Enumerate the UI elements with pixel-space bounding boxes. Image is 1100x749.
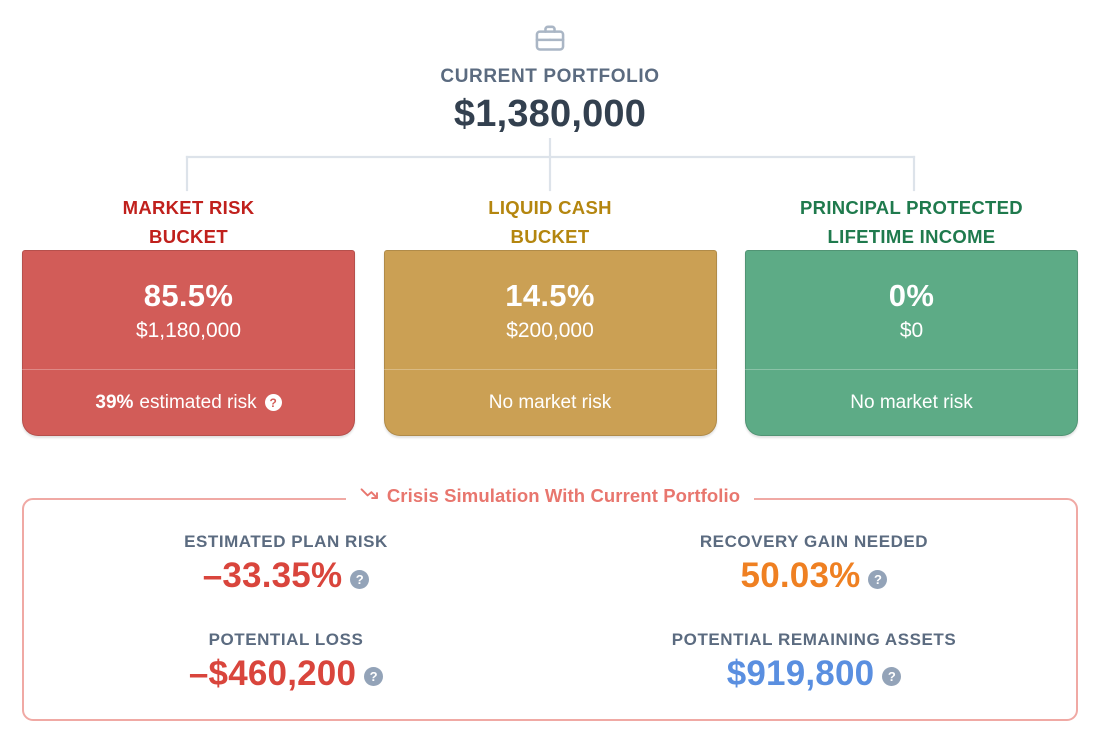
stat-value: –33.35% xyxy=(203,555,343,597)
bucket-risk-text: estimated risk xyxy=(139,392,256,414)
stat-value: 50.03% xyxy=(741,555,861,597)
bucket-amount: $0 xyxy=(900,317,923,345)
help-icon-estimated-plan-risk[interactable]: ? xyxy=(350,570,369,589)
help-icon-potential-remaining-assets[interactable]: ? xyxy=(882,667,901,686)
bucket-title-principal-protected: PRINCIPAL PROTECTED LIFETIME INCOME xyxy=(745,194,1078,250)
bucket-body-liquid-cash: 14.5% $200,000 No market risk xyxy=(384,250,717,436)
bucket-body-market-risk: 85.5% $1,180,000 39% estimated risk ? xyxy=(22,250,355,436)
briefcase-icon xyxy=(0,22,1100,59)
help-icon-potential-loss[interactable]: ? xyxy=(364,667,383,686)
bucket-amount: $1,180,000 xyxy=(136,317,241,345)
bucket-title-line1: LIQUID CASH xyxy=(488,197,612,218)
crisis-simulation-panel: Crisis Simulation With Current Portfolio… xyxy=(22,498,1078,721)
stat-value: $919,800 xyxy=(727,653,875,695)
stat-value: –$460,200 xyxy=(189,653,356,695)
bucket-body-principal-protected: 0% $0 No market risk xyxy=(745,250,1078,436)
stat-recovery-gain-needed: RECOVERY GAIN NEEDED 50.03% ? xyxy=(550,516,1078,614)
bucket-risk-text: No market risk xyxy=(489,392,611,414)
stat-estimated-plan-risk: ESTIMATED PLAN RISK –33.35% ? xyxy=(22,516,550,614)
stat-label: ESTIMATED PLAN RISK xyxy=(184,532,388,552)
help-icon-market-risk[interactable]: ? xyxy=(265,394,282,411)
bucket-bottom-liquid-cash: No market risk xyxy=(384,370,717,436)
bucket-title-line2: BUCKET xyxy=(511,226,590,247)
bucket-title-market-risk: MARKET RISK BUCKET xyxy=(22,194,355,250)
portfolio-header: CURRENT PORTFOLIO $1,380,000 xyxy=(0,0,1100,139)
stat-label: RECOVERY GAIN NEEDED xyxy=(700,532,928,552)
stat-label: POTENTIAL LOSS xyxy=(209,630,364,650)
bucket-title-line1: MARKET RISK xyxy=(123,197,255,218)
bucket-risk-value: 39% xyxy=(95,392,133,414)
bucket-connector-lines xyxy=(0,138,1100,194)
stat-label: POTENTIAL REMAINING ASSETS xyxy=(672,630,956,650)
bucket-percent: 14.5% xyxy=(505,278,594,314)
bucket-risk-text: No market risk xyxy=(850,392,972,414)
bucket-liquid-cash[interactable]: LIQUID CASH BUCKET 14.5% $200,000 No mar… xyxy=(384,194,717,436)
bucket-percent: 85.5% xyxy=(144,278,233,314)
bucket-title-line1: PRINCIPAL PROTECTED xyxy=(800,197,1023,218)
portfolio-amount: $1,380,000 xyxy=(0,90,1100,139)
buckets-row: MARKET RISK BUCKET 85.5% $1,180,000 39% … xyxy=(0,194,1100,436)
trend-down-arrow-icon xyxy=(360,485,379,507)
bucket-principal-protected[interactable]: PRINCIPAL PROTECTED LIFETIME INCOME 0% $… xyxy=(745,194,1078,436)
stat-potential-remaining-assets: POTENTIAL REMAINING ASSETS $919,800 ? xyxy=(550,614,1078,712)
bucket-top-liquid-cash: 14.5% $200,000 xyxy=(384,250,717,369)
bucket-top-market-risk: 85.5% $1,180,000 xyxy=(22,250,355,369)
help-icon-recovery-gain-needed[interactable]: ? xyxy=(868,570,887,589)
bucket-title-liquid-cash: LIQUID CASH BUCKET xyxy=(384,194,717,250)
crisis-title-bar: Crisis Simulation With Current Portfolio xyxy=(22,485,1078,507)
stat-potential-loss: POTENTIAL LOSS –$460,200 ? xyxy=(22,614,550,712)
bucket-title-line2: LIFETIME INCOME xyxy=(828,226,996,247)
portfolio-label: CURRENT PORTFOLIO xyxy=(0,65,1100,89)
bucket-market-risk[interactable]: MARKET RISK BUCKET 85.5% $1,180,000 39% … xyxy=(22,194,355,436)
bucket-top-principal-protected: 0% $0 xyxy=(745,250,1078,369)
crisis-stats-grid: ESTIMATED PLAN RISK –33.35% ? RECOVERY G… xyxy=(22,498,1078,721)
bucket-amount: $200,000 xyxy=(506,317,594,345)
bucket-title-line2: BUCKET xyxy=(149,226,228,247)
bucket-bottom-market-risk: 39% estimated risk ? xyxy=(22,370,355,436)
crisis-title-text: Crisis Simulation With Current Portfolio xyxy=(387,485,740,507)
bucket-bottom-principal-protected: No market risk xyxy=(745,370,1078,436)
bucket-percent: 0% xyxy=(889,278,934,314)
